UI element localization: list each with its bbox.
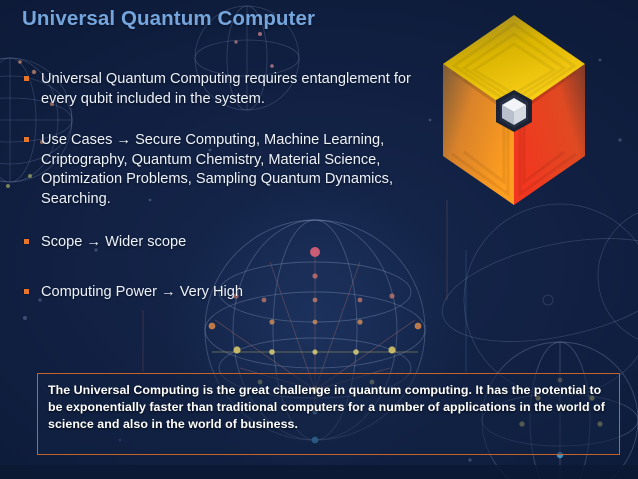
square-bullet-icon xyxy=(24,137,29,142)
list-item: Computing Power → Very High xyxy=(22,283,422,303)
square-bullet-icon xyxy=(24,289,29,294)
slide-title: Universal Quantum Computer xyxy=(22,7,315,31)
square-bullet-icon xyxy=(24,239,29,244)
bottom-band xyxy=(0,465,638,479)
bullet-text: Computing Power → Very High xyxy=(41,283,422,303)
bullet-text: Scope → Wider scope xyxy=(41,233,422,253)
list-item: Use Cases → Secure Computing, Machine Le… xyxy=(22,131,422,209)
callout-box: The Universal Computing is the great cha… xyxy=(37,373,620,455)
slide-canvas: Universal Quantum Computer Universal Qua… xyxy=(0,0,638,479)
list-item: Universal Quantum Computing requires ent… xyxy=(22,70,422,109)
callout-text: The Universal Computing is the great cha… xyxy=(48,382,609,434)
bullet-text: Universal Quantum Computing requires ent… xyxy=(41,70,422,109)
bullet-list: Universal Quantum Computing requires ent… xyxy=(22,70,422,302)
list-item: Scope → Wider scope xyxy=(22,233,422,253)
bullet-text: Use Cases → Secure Computing, Machine Le… xyxy=(41,131,422,209)
isometric-cube-illustration xyxy=(440,12,588,208)
square-bullet-icon xyxy=(24,76,29,81)
